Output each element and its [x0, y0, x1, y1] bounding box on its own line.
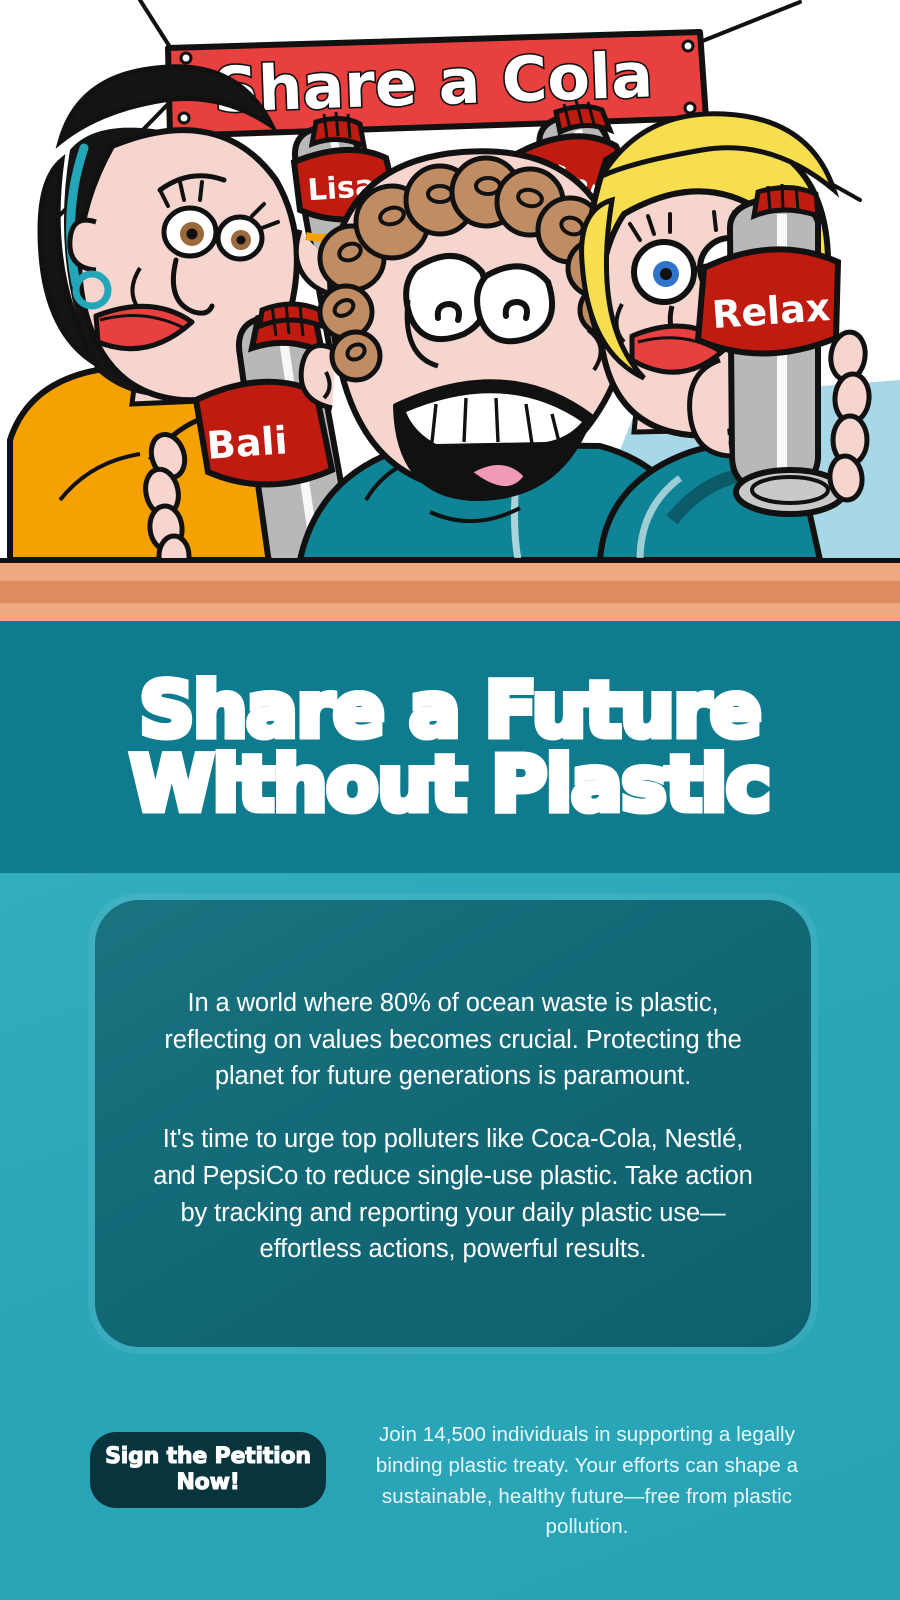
petition-support-text: Join 14,500 individuals in supporting a … [352, 1420, 822, 1543]
body-paragraph-1: In a world where 80% of ocean waste is p… [147, 985, 759, 1095]
headline-band: Share a Future Without Plastic [0, 621, 900, 873]
divider-band-peach-top [0, 563, 900, 581]
bottle-label-bali: Bali [205, 418, 289, 468]
page-title: Share a Future Without Plastic [130, 673, 770, 822]
banner: Share a Cola [168, 32, 706, 136]
headline-line-2: Without Plastic [130, 747, 770, 821]
hero-illustration: Share a Cola [0, 0, 900, 560]
sign-petition-button[interactable]: Sign the Petition Now! [90, 1432, 326, 1508]
body-paragraph-2: It's time to urge top polluters like Coc… [147, 1121, 759, 1268]
divider-band-peach-bottom [0, 603, 900, 621]
bottle-label-relax: Relax [711, 285, 832, 337]
divider-band-tan [0, 581, 900, 603]
cta-row: Sign the Petition Now! Join 14,500 indiv… [0, 1420, 900, 1580]
body-copy-card: In a world where 80% of ocean waste is p… [95, 900, 811, 1347]
poster-page: Share a Cola [0, 0, 900, 1600]
